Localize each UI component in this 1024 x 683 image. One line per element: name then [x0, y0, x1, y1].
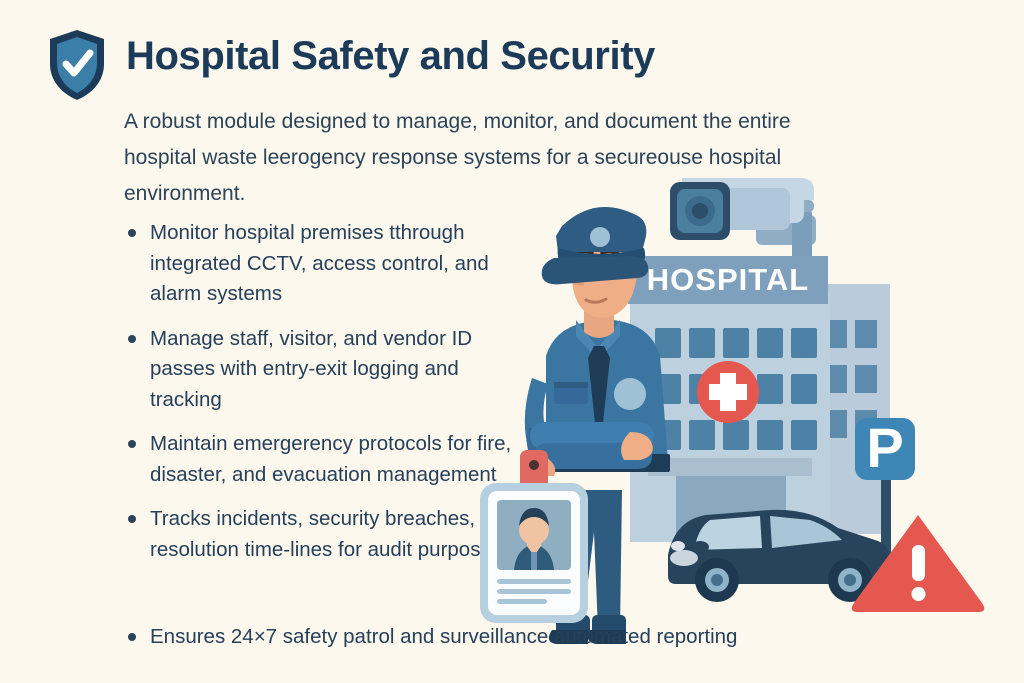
bullet-dot-icon — [128, 335, 136, 343]
parking-sign-label: P — [866, 416, 903, 479]
infographic-page: Hospital Safety and Security A robust mo… — [0, 0, 1024, 683]
bullet-dot-icon — [128, 515, 136, 523]
id-badge — [480, 450, 588, 623]
bullet-dot-icon — [128, 440, 136, 448]
page-title: Hospital Safety and Security — [126, 34, 655, 79]
list-item: Manage staff, visitor, and vendor ID pas… — [124, 324, 524, 416]
illustration: HOSPITAL — [470, 160, 1024, 683]
page-header: Hospital Safety and Security — [46, 28, 655, 102]
hospital-building: HOSPITAL — [628, 256, 890, 542]
list-item-label: Manage staff, visitor, and vendor ID pas… — [150, 324, 524, 416]
list-item: Monitor hospital premises tthrough integ… — [124, 218, 524, 310]
list-item: Maintain emergerency protocols for fire,… — [124, 429, 524, 490]
list-item-label: Tracks incidents, security breaches, and… — [150, 504, 524, 565]
list-item-label: Ensures 24×7 safety patrol and surveilla… — [150, 625, 737, 648]
bullet-dot-icon — [128, 229, 136, 237]
list-item-label: Maintain emergerency protocols for fire,… — [150, 429, 524, 490]
list-item-label: Monitor hospital premises tthrough integ… — [150, 218, 524, 310]
bullet-dot-icon — [128, 633, 136, 641]
hospital-sign-label: HOSPITAL — [647, 262, 809, 297]
list-item-wide: Ensures 24×7 safety patrol and surveilla… — [124, 622, 940, 653]
feature-list: Monitor hospital premises tthrough integ… — [124, 218, 524, 579]
cctv-camera-icon — [670, 178, 816, 263]
list-item: Tracks incidents, security breaches, and… — [124, 504, 524, 565]
shield-check-icon — [46, 28, 108, 102]
